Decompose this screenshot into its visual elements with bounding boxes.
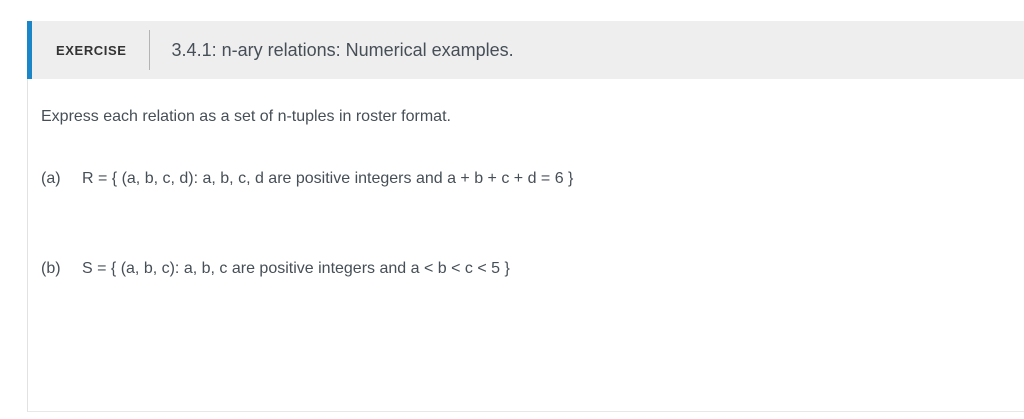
- question-text-a: R = { (a, b, c, d): a, b, c, d are posit…: [82, 169, 573, 189]
- header-divider: [149, 30, 150, 70]
- question-text-b: S = { (a, b, c): a, b, c are positive in…: [82, 259, 510, 279]
- exercise-header: EXERCISE 3.4.1: n-ary relations: Numeric…: [28, 21, 1024, 79]
- exercise-title: 3.4.1: n-ary relations: Numerical exampl…: [172, 40, 514, 61]
- instruction-text: Express each relation as a set of n-tupl…: [41, 107, 1024, 127]
- accent-bar: [27, 21, 32, 79]
- exercise-tag-label: EXERCISE: [56, 43, 127, 58]
- question-item-b: (b) S = { (a, b, c): a, b, c are positiv…: [41, 259, 1024, 279]
- exercise-body: Express each relation as a set of n-tupl…: [28, 79, 1024, 411]
- page-root: EXERCISE 3.4.1: n-ary relations: Numeric…: [0, 0, 1024, 419]
- question-label-a: (a): [41, 169, 82, 189]
- exercise-card: EXERCISE 3.4.1: n-ary relations: Numeric…: [27, 21, 1024, 412]
- question-item-a: (a) R = { (a, b, c, d): a, b, c, d are p…: [41, 169, 1024, 189]
- question-list: (a) R = { (a, b, c, d): a, b, c, d are p…: [28, 169, 1024, 279]
- question-label-b: (b): [41, 259, 82, 279]
